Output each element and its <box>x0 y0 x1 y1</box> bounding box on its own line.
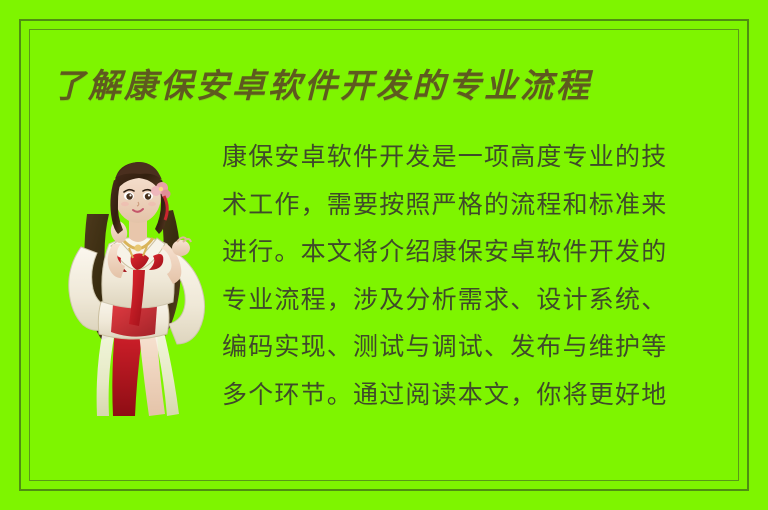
character-illustration <box>57 152 221 417</box>
anime-female-character-icon <box>57 152 221 417</box>
article-line: 编码实现、测试与调试、发布与维护等 <box>222 323 722 371</box>
article-line: 康保安卓软件开发是一项高度专业的技 <box>222 133 722 181</box>
article-banner: 了解康保安卓软件开发的专业流程 <box>0 0 768 510</box>
article-line: 术工作，需要按照严格的流程和标准来 <box>222 181 722 229</box>
page-title: 了解康保安卓软件开发的专业流程 <box>52 66 592 106</box>
article-body: 康保安卓软件开发是一项高度专业的技 术工作，需要按照严格的流程和标准来 进行。本… <box>222 133 722 418</box>
article-line: 专业流程，涉及分析需求、设计系统、 <box>222 276 722 324</box>
article-line: 进行。本文将介绍康保安卓软件开发的 <box>222 228 722 276</box>
article-line: 多个环节。通过阅读本文，你将更好地 <box>222 371 722 419</box>
